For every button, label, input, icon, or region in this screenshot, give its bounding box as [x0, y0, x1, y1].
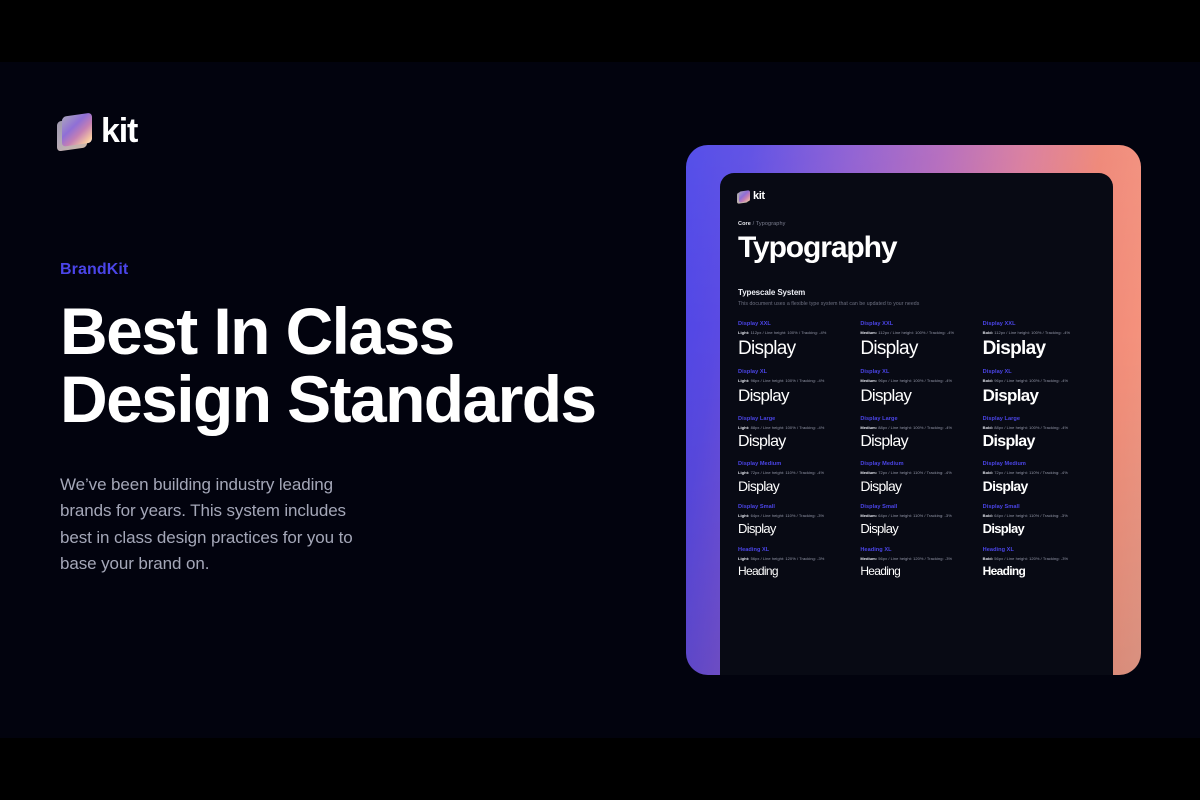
- typescale-sample: Display: [860, 387, 972, 404]
- typescale-meta: Medium: 72px / Line height: 110% / Track…: [860, 470, 972, 475]
- typescale-name: Display XL: [860, 369, 972, 375]
- typescale-name: Heading XL: [983, 547, 1095, 553]
- typescale-name: Display Small: [983, 504, 1095, 510]
- document-brand-lockup: kit: [738, 191, 1095, 202]
- typescale-sample: Display: [738, 339, 850, 358]
- typescale-cell[interactable]: Display MediumBold: 72px / Line height: …: [983, 461, 1095, 493]
- typescale-sample: Display: [738, 434, 850, 450]
- typescale-cell[interactable]: Display XLMedium: 96px / Line height: 10…: [860, 369, 972, 404]
- hero-headline: Best In Class Design Standards: [60, 298, 660, 434]
- typescale-name: Display Large: [738, 416, 850, 422]
- typescale-name: Display XL: [983, 369, 1095, 375]
- section-title: Typescale System: [738, 288, 1095, 297]
- breadcrumb-current: Typography: [756, 221, 786, 227]
- hero-eyebrow: BrandKit: [60, 261, 660, 279]
- typography-document-card[interactable]: kit Core / Typography Typography Typesca…: [720, 173, 1113, 675]
- typescale-sample: Display: [983, 522, 1095, 535]
- typescale-cell[interactable]: Display XLBold: 96px / Line height: 100%…: [983, 369, 1095, 404]
- kit-logo-icon: [60, 116, 90, 146]
- typescale-cell[interactable]: Display MediumLight: 72px / Line height:…: [738, 461, 850, 493]
- document-inner: kit Core / Typography Typography Typesca…: [720, 173, 1113, 577]
- typescale-name: Display Medium: [983, 461, 1095, 467]
- typescale-meta: Light: 96px / Line height: 100% / Tracki…: [738, 378, 850, 383]
- screenshot-stage: kit BrandKit Best In Class Design Standa…: [0, 0, 1200, 800]
- typescale-meta: Medium: 56px / Line height: 120% / Track…: [860, 556, 972, 561]
- hero-column: kit BrandKit Best In Class Design Standa…: [60, 114, 660, 634]
- typescale-name: Display Large: [860, 416, 972, 422]
- typescale-cell[interactable]: Heading XLBold: 56px / Line height: 120%…: [983, 547, 1095, 577]
- typescale-sample: Display: [983, 479, 1095, 493]
- typescale-name: Display Medium: [738, 461, 850, 467]
- typescale-name: Display XXL: [983, 321, 1095, 327]
- typescale-sample: Display: [860, 434, 972, 450]
- brand-lockup[interactable]: kit: [60, 114, 660, 148]
- typescale-meta: Medium: 112px / Line height: 100% / Trac…: [860, 330, 972, 335]
- typescale-sample: Heading: [860, 565, 972, 577]
- typescale-name: Display Large: [983, 416, 1095, 422]
- hero-body-text: We’ve been building industry leading bra…: [60, 472, 420, 577]
- typescale-meta: Bold: 64px / Line height: 110% / Trackin…: [983, 513, 1095, 518]
- typescale-name: Display XL: [738, 369, 850, 375]
- typescale-cell[interactable]: Heading XLLight: 56px / Line height: 120…: [738, 547, 850, 577]
- typescale-meta: Bold: 56px / Line height: 120% / Trackin…: [983, 556, 1095, 561]
- gradient-preview-frame: kit Core / Typography Typography Typesca…: [686, 145, 1141, 675]
- typescale-meta: Medium: 88px / Line height: 100% / Track…: [860, 425, 972, 430]
- typescale-meta: Bold: 112px / Line height: 100% / Tracki…: [983, 330, 1095, 335]
- document-brand-wordmark: kit: [753, 191, 765, 202]
- typescale-name: Heading XL: [738, 547, 850, 553]
- breadcrumb[interactable]: Core / Typography: [738, 221, 1095, 227]
- typescale-cell[interactable]: Display LargeBold: 88px / Line height: 1…: [983, 416, 1095, 450]
- kit-logo-icon-small: [738, 191, 749, 202]
- typescale-sample: Display: [738, 522, 850, 535]
- typescale-meta: Light: 64px / Line height: 110% / Tracki…: [738, 513, 850, 518]
- letterbox-top-bar: [0, 0, 1200, 62]
- typescale-name: Display Small: [738, 504, 850, 510]
- typescale-cell[interactable]: Display LargeMedium: 88px / Line height:…: [860, 416, 972, 450]
- typescale-name: Display Medium: [860, 461, 972, 467]
- typescale-sample: Heading: [738, 565, 850, 577]
- brand-wordmark: kit: [101, 114, 137, 148]
- typescale-meta: Light: 56px / Line height: 120% / Tracki…: [738, 556, 850, 561]
- typescale-name: Display XXL: [738, 321, 850, 327]
- typescale-sample: Display: [860, 479, 972, 493]
- typescale-meta: Light: 88px / Line height: 100% / Tracki…: [738, 425, 850, 430]
- section-subtitle: This document uses a flexible type syste…: [738, 301, 1095, 307]
- typescale-sample: Display: [860, 339, 972, 358]
- typescale-sample: Display: [983, 434, 1095, 450]
- typescale-sample: Display: [738, 479, 850, 493]
- typescale-name: Display Small: [860, 504, 972, 510]
- typescale-cell[interactable]: Display XXLMedium: 112px / Line height: …: [860, 321, 972, 358]
- typescale-meta: Medium: 64px / Line height: 110% / Track…: [860, 513, 972, 518]
- typescale-meta: Bold: 72px / Line height: 110% / Trackin…: [983, 470, 1095, 475]
- typescale-cell[interactable]: Display XXLLight: 112px / Line height: 1…: [738, 321, 850, 358]
- typescale-cell[interactable]: Display MediumMedium: 72px / Line height…: [860, 461, 972, 493]
- typescale-cell[interactable]: Heading XLMedium: 56px / Line height: 12…: [860, 547, 972, 577]
- document-title: Typography: [738, 231, 1095, 264]
- page-canvas: kit BrandKit Best In Class Design Standa…: [0, 62, 1200, 738]
- typescale-name: Display XXL: [860, 321, 972, 327]
- typescale-cell[interactable]: Display SmallBold: 64px / Line height: 1…: [983, 504, 1095, 535]
- typescale-meta: Light: 112px / Line height: 100% / Track…: [738, 330, 850, 335]
- typescale-meta: Bold: 96px / Line height: 100% / Trackin…: [983, 378, 1095, 383]
- typescale-grid: Display XXLLight: 112px / Line height: 1…: [738, 321, 1095, 577]
- typescale-sample: Display: [983, 387, 1095, 404]
- breadcrumb-root[interactable]: Core: [738, 221, 751, 227]
- typescale-name: Heading XL: [860, 547, 972, 553]
- typescale-sample: Display: [983, 339, 1095, 358]
- typescale-sample: Display: [738, 387, 850, 404]
- typescale-cell[interactable]: Display SmallLight: 64px / Line height: …: [738, 504, 850, 535]
- typescale-cell[interactable]: Display LargeLight: 88px / Line height: …: [738, 416, 850, 450]
- typescale-cell[interactable]: Display XXLBold: 112px / Line height: 10…: [983, 321, 1095, 358]
- letterbox-bottom-bar: [0, 738, 1200, 800]
- typescale-cell[interactable]: Display XLLight: 96px / Line height: 100…: [738, 369, 850, 404]
- typescale-sample: Display: [860, 522, 972, 535]
- typescale-cell[interactable]: Display SmallMedium: 64px / Line height:…: [860, 504, 972, 535]
- typescale-sample: Heading: [983, 565, 1095, 577]
- typescale-meta: Medium: 96px / Line height: 100% / Track…: [860, 378, 972, 383]
- typescale-meta: Bold: 88px / Line height: 100% / Trackin…: [983, 425, 1095, 430]
- typescale-meta: Light: 72px / Line height: 110% / Tracki…: [738, 470, 850, 475]
